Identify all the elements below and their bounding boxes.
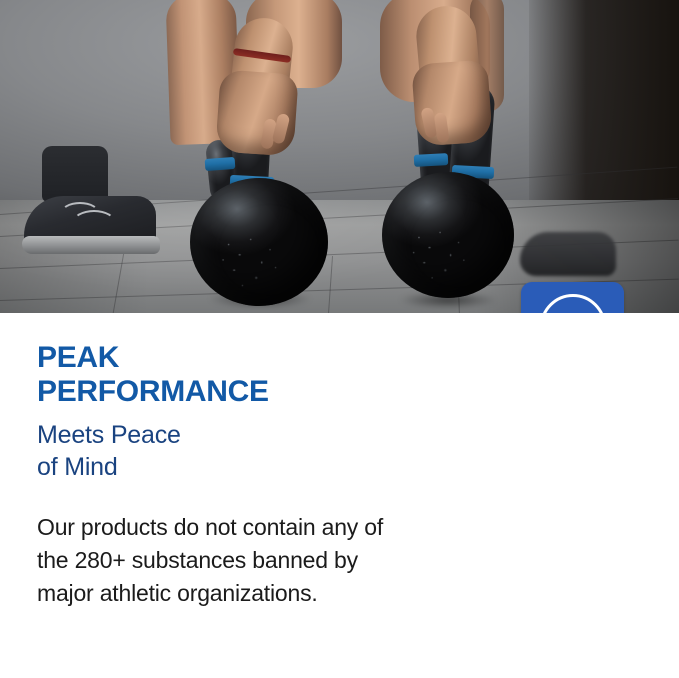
finger [434, 112, 450, 143]
sneaker-background [520, 232, 616, 276]
sneaker [24, 196, 156, 262]
finger [272, 113, 291, 145]
kettlebell-bell [382, 172, 514, 298]
page-title: PEAK PERFORMANCE [37, 341, 437, 409]
left-text-column: PEAK PERFORMANCE Meets Peace of Mind Our… [37, 341, 437, 609]
headline-line-2: PERFORMANCE [37, 375, 437, 409]
kettlebell-texture [190, 178, 328, 306]
promo-graphic: Manufactured from US and globally source… [0, 0, 679, 678]
content-area: PEAK PERFORMANCE Meets Peace of Mind Our… [0, 313, 679, 678]
kettlebell-texture [382, 172, 514, 298]
hand-gripping-left [215, 69, 299, 156]
body-copy: Our products do not contain any of the 2… [37, 511, 397, 609]
subhead-line-2: of Mind [37, 452, 437, 484]
headline-line-1: PEAK [37, 341, 119, 374]
shoelace [72, 210, 116, 236]
hand-gripping-right [411, 59, 493, 146]
subhead-line-1: Meets Peace [37, 421, 181, 449]
sneaker-sole [22, 236, 160, 254]
kettlebell-blue-band [205, 157, 236, 171]
kettlebell-blue-band [414, 153, 449, 167]
kettlebell-scene [0, 0, 679, 313]
kettlebell-bell [190, 178, 328, 306]
hero-photo [0, 0, 679, 313]
sock [42, 146, 108, 202]
page-subtitle: Meets Peace of Mind [37, 420, 437, 483]
